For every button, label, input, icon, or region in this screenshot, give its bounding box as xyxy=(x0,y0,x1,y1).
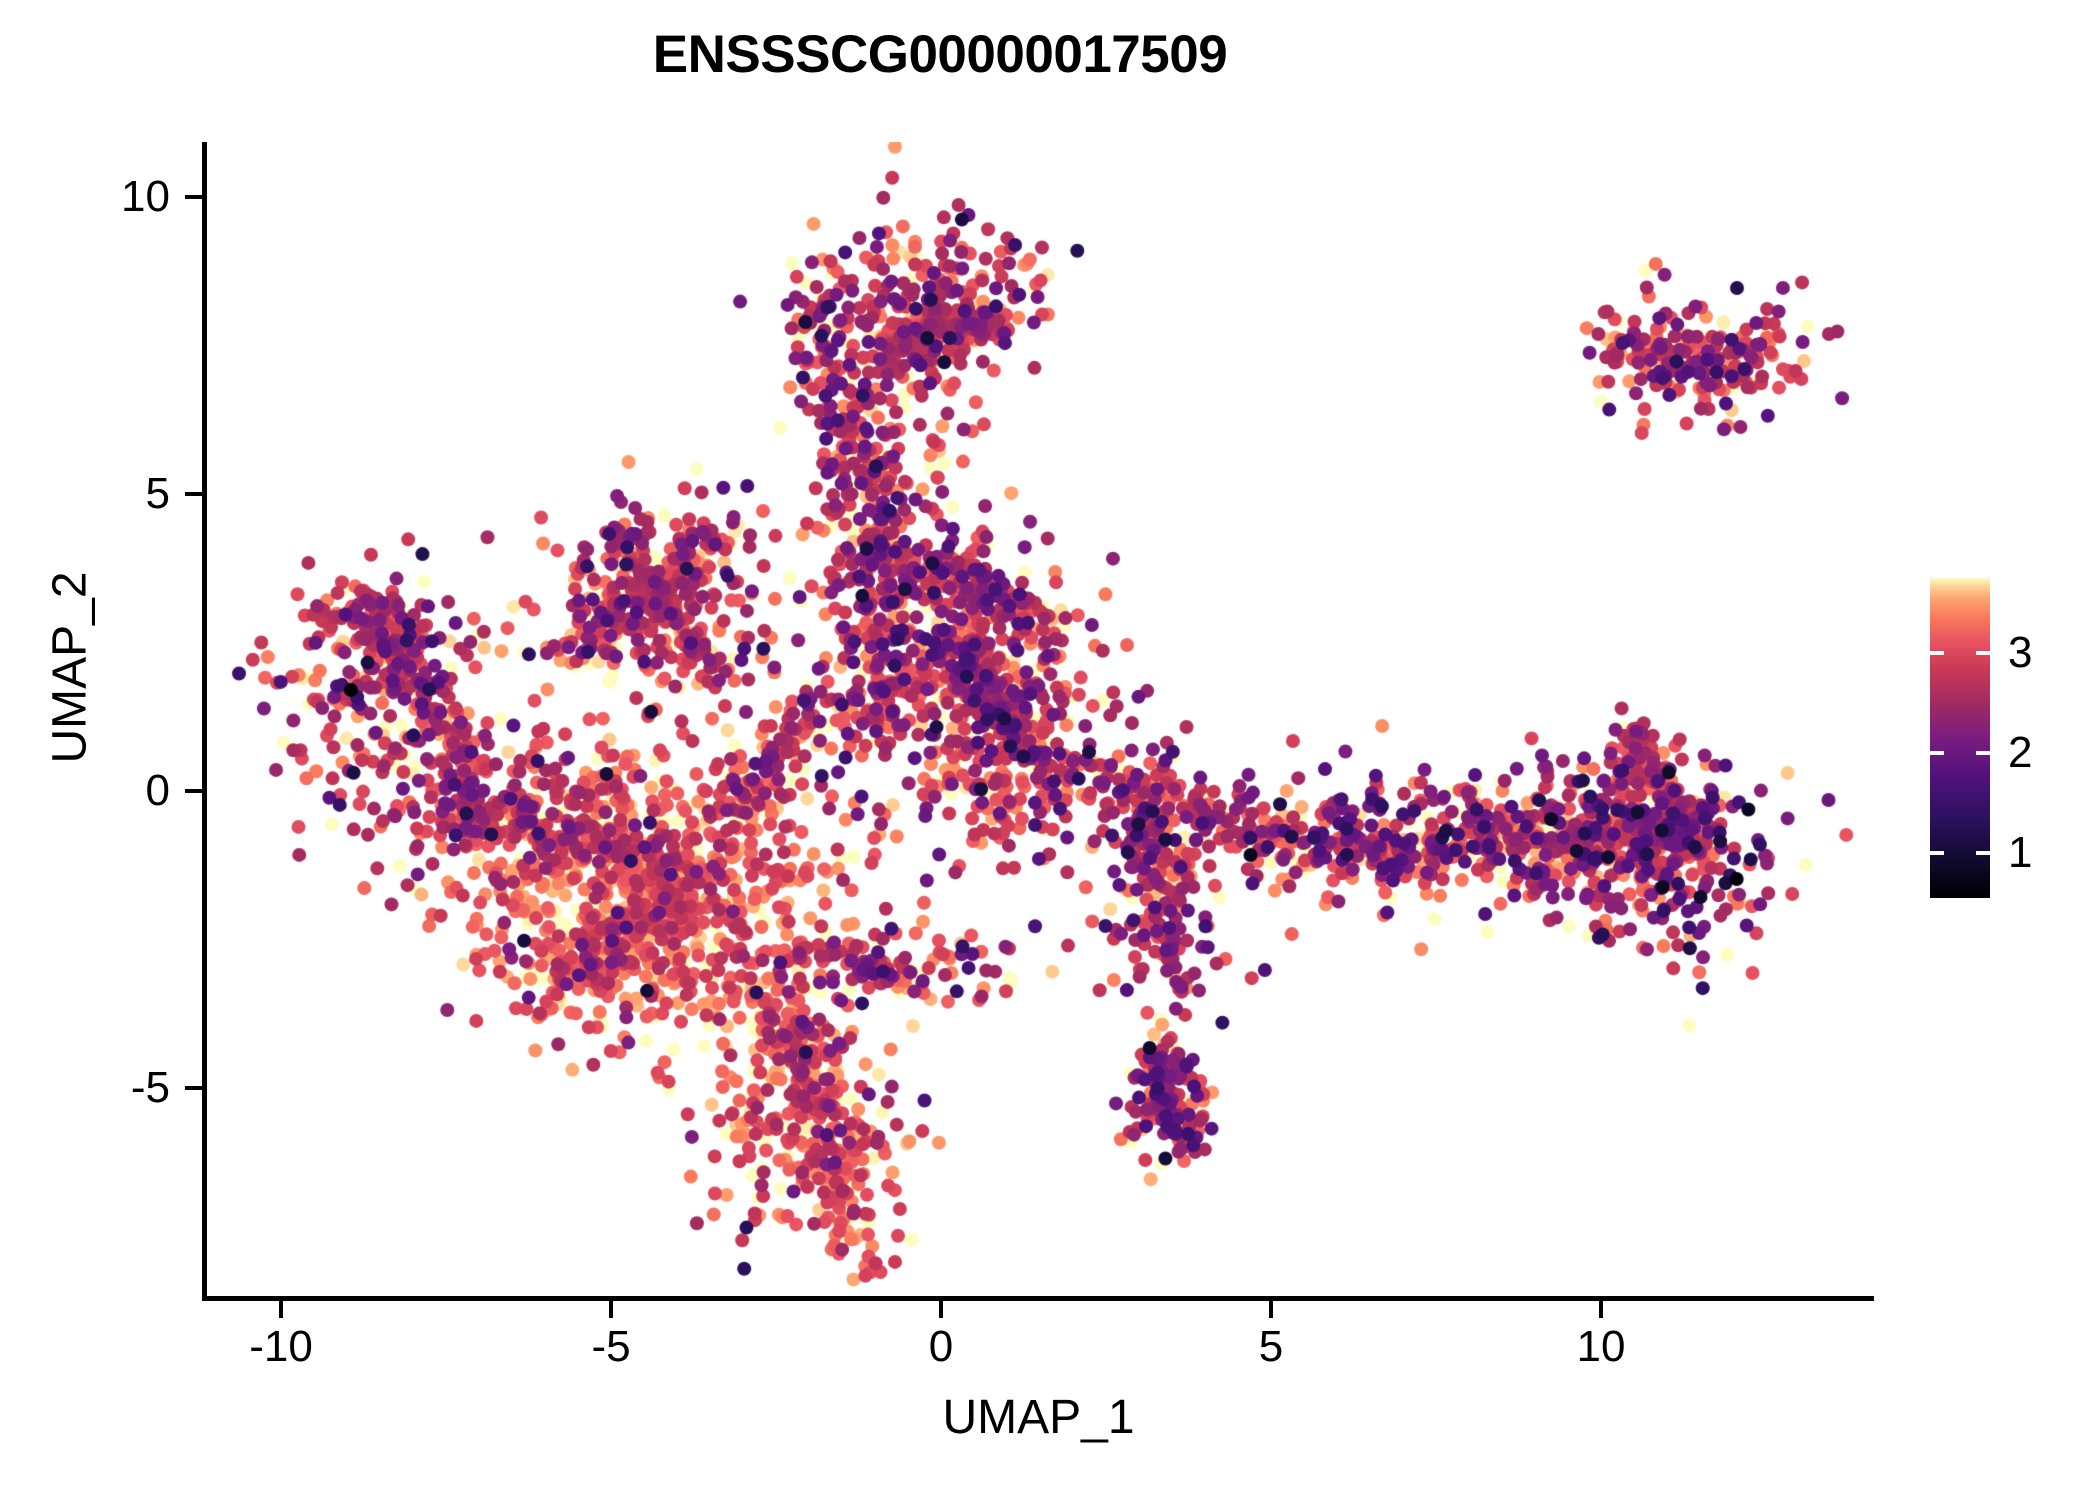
page-title: ENSSSCG00000017509 xyxy=(0,24,1880,85)
x-tick-label: -5 xyxy=(591,1322,630,1372)
y-tick-mark xyxy=(185,789,202,793)
x-axis-line xyxy=(202,1296,1874,1301)
y-tick-mark xyxy=(185,492,202,496)
x-tick-mark xyxy=(609,1301,613,1318)
x-tick-mark xyxy=(1599,1301,1603,1318)
x-tick-mark xyxy=(1269,1301,1273,1318)
y-tick-mark xyxy=(185,195,202,199)
y-axis-line xyxy=(202,142,207,1301)
colorbar-tick-mark xyxy=(1930,851,1944,855)
colorbar-tick-mark xyxy=(1976,751,1990,755)
y-tick-mark xyxy=(185,1086,202,1090)
colorbar-tick-mark xyxy=(1930,651,1944,655)
colorbar-tick-mark xyxy=(1976,651,1990,655)
x-axis-title: UMAP_1 xyxy=(205,1390,1872,1445)
x-tick-label: 10 xyxy=(1577,1322,1626,1372)
y-axis-title: UMAP_2 xyxy=(43,268,98,1068)
x-tick-mark xyxy=(279,1301,283,1318)
umap-feature-plot: ENSSSCG00000017509 -10-50510 -50510 UMAP… xyxy=(0,0,2100,1500)
colorbar-tick-mark xyxy=(1930,751,1944,755)
x-tick-label: -10 xyxy=(249,1322,313,1372)
x-tick-label: 0 xyxy=(929,1322,953,1372)
scatter-canvas xyxy=(205,142,1872,1298)
x-tick-mark xyxy=(939,1301,943,1318)
colorbar-tick-label: 2 xyxy=(2008,728,2032,778)
x-tick-label: 5 xyxy=(1259,1322,1283,1372)
colorbar-tick-label: 1 xyxy=(2008,828,2032,878)
y-tick-label: -5 xyxy=(0,1063,170,1113)
colorbar-tick-label: 3 xyxy=(2008,628,2032,678)
colorbar-gradient xyxy=(1930,578,1990,898)
colorbar-tick-mark xyxy=(1976,851,1990,855)
plot-panel xyxy=(205,142,1872,1298)
y-tick-label: 10 xyxy=(0,172,170,222)
colorbar-legend: 123 xyxy=(1930,578,1990,898)
